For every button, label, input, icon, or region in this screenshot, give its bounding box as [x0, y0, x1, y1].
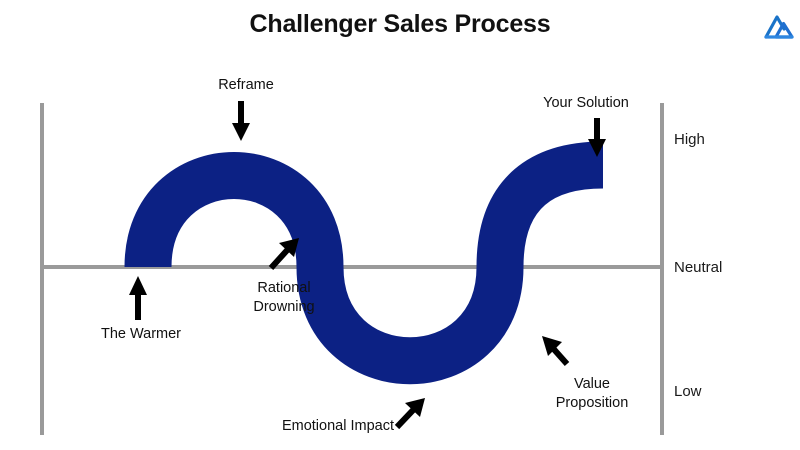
arrow-reframe-icon [232, 101, 250, 141]
axis-label-low: Low [674, 383, 702, 400]
annotation-label-your-solution: Your Solution [533, 94, 639, 113]
arrow-value-proposition-icon [542, 336, 567, 364]
arrow-emotional-impact-icon [397, 398, 425, 427]
axis-label-neutral: Neutral [674, 259, 722, 276]
annotation-label-rational-drowning: Rational Drowning [236, 279, 332, 317]
slide-canvas: Challenger Sales Process [0, 0, 800, 450]
emotional-journey-curve [148, 165, 603, 361]
annotation-label-the-warmer: The Warmer [88, 325, 194, 344]
annotation-label-reframe: Reframe [206, 76, 286, 95]
axis-label-high: High [674, 131, 705, 148]
annotation-label-value-proposition: Value Proposition [547, 375, 637, 413]
annotation-label-emotional-impact: Emotional Impact [262, 417, 394, 436]
arrow-the-warmer-icon [129, 276, 147, 320]
arrow-rational-drowning-icon [271, 238, 299, 268]
